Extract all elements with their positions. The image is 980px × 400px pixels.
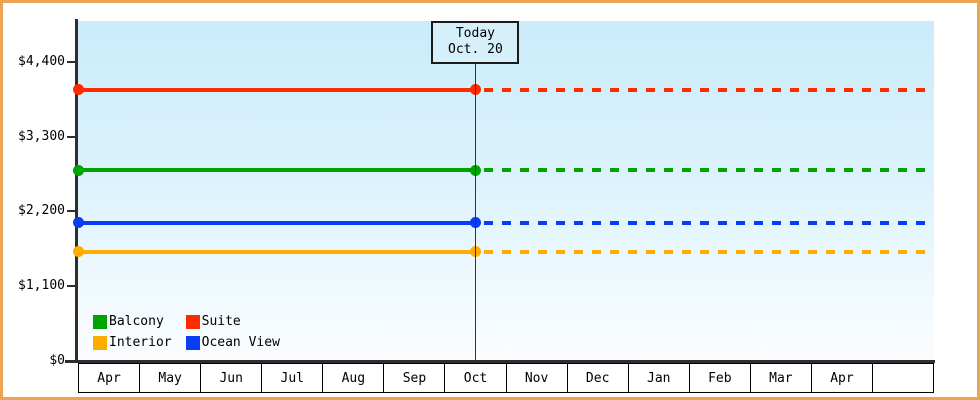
chart-frame: $0$1,100$2,200$3,300$4,400 Today Oct. 20… [0,0,980,400]
plot-area [78,21,934,361]
y-axis-label-slot: $4,400 [3,54,65,69]
legend-swatch-suite [186,315,200,329]
legend-item-ocean-view[interactable]: Ocean View [186,334,280,351]
legend-item-interior[interactable]: Interior [93,334,172,351]
y-axis-line [75,19,78,363]
x-axis-month-cell-nov[interactable]: Nov [507,364,568,392]
x-axis-month-cell-aug[interactable]: Aug [323,364,384,392]
y-axis-tick-label: $3,300 [3,129,65,144]
legend-swatch-interior [93,336,107,350]
x-axis-month-cell-apr[interactable]: Apr [812,364,873,392]
x-axis-month-cell-jun[interactable]: Jun [201,364,262,392]
x-axis-month-cell-dec[interactable]: Dec [568,364,629,392]
x-axis-month-cell-feb[interactable]: Feb [690,364,751,392]
y-axis-tick-label: $1,100 [3,278,65,293]
y-axis-tick [67,360,76,362]
today-callout-box: Today Oct. 20 [431,21,519,64]
series-line-dashed-ocean-view [484,221,934,225]
series-line-dashed-balcony [484,168,934,172]
legend-swatch-balcony [93,315,107,329]
series-marker-start-balcony[interactable] [73,165,84,176]
y-axis-tick [67,136,76,138]
x-axis-month-cell-empty[interactable] [873,364,934,392]
today-callout-title: Today [443,26,507,42]
y-axis-label-slot: $3,300 [3,129,65,144]
legend-item-suite[interactable]: Suite [186,313,280,330]
legend-label: Suite [202,314,241,329]
y-axis-tick-label: $4,400 [3,54,65,69]
y-axis-tick [67,210,76,212]
y-axis-tick [67,285,76,287]
legend-label: Balcony [109,314,164,329]
x-axis-month-cell-oct[interactable]: Oct [445,364,506,392]
series-line-dashed-interior [484,250,934,254]
series-line-solid-balcony [78,168,475,172]
x-axis-month-cell-jan[interactable]: Jan [629,364,690,392]
y-axis-label-slot: $1,100 [3,278,65,293]
legend-label: Ocean View [202,335,280,350]
today-vertical-line [475,21,476,361]
y-axis-tick-label: $0 [3,353,65,368]
x-axis-month-cell-apr[interactable]: Apr [79,364,140,392]
x-axis-month-cell-may[interactable]: May [140,364,201,392]
x-axis-month-cell-jul[interactable]: Jul [262,364,323,392]
x-axis-month-cell-sep[interactable]: Sep [384,364,445,392]
y-axis-tick-label: $2,200 [3,203,65,218]
y-axis-label-slot: $2,200 [3,203,65,218]
series-line-solid-interior [78,250,475,254]
series-line-dashed-suite [484,88,934,92]
chart-canvas: $0$1,100$2,200$3,300$4,400 Today Oct. 20… [3,3,977,397]
legend-label: Interior [109,335,172,350]
legend-swatch-ocean-view [186,336,200,350]
y-axis-tick [67,61,76,63]
legend-item-balcony[interactable]: Balcony [93,313,172,330]
chart-legend: BalconySuiteInteriorOcean View [93,313,280,351]
x-axis-month-table: AprMayJunJulAugSepOctNovDecJanFebMarApr [78,363,934,393]
x-axis-month-cell-mar[interactable]: Mar [751,364,812,392]
y-axis-label-slot: $0 [3,353,65,368]
series-line-solid-suite [78,88,475,92]
today-callout-date: Oct. 20 [443,42,507,58]
series-line-solid-ocean-view [78,221,475,225]
